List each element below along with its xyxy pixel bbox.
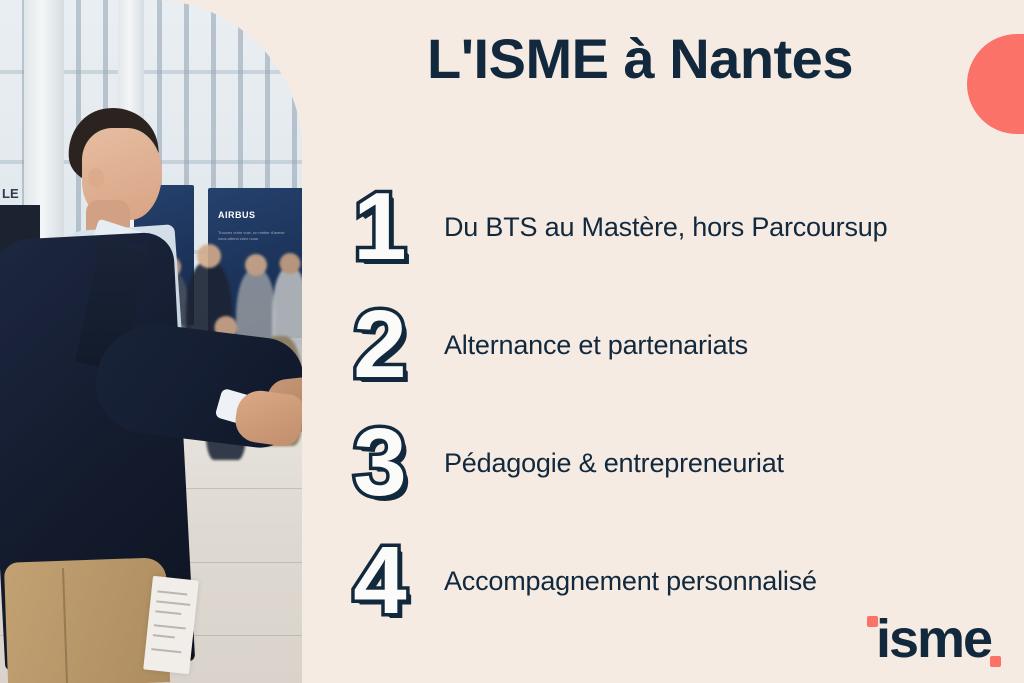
point-label: Du BTS au Mastère, hors Parcoursup <box>428 212 887 243</box>
photo-brochure <box>143 576 199 674</box>
numbered-points-list: 1 Du BTS au Mastère, hors Parcoursup 2 A… <box>332 168 1022 640</box>
point-label: Alternance et partenariats <box>428 330 748 361</box>
hero-photo: LE AIRBUS Trouvez votre voie, un métier … <box>0 0 302 683</box>
photo-banner-left-label: LE <box>2 186 19 201</box>
photo-banner-airbus-label: AIRBUS <box>218 210 256 220</box>
logo-dot-icon <box>990 656 1001 667</box>
photo-banner-airbus-sublabel: Trouvez votre voie, un métier d'avenir v… <box>218 230 292 242</box>
point-number-badge: 2 <box>332 297 428 393</box>
page-title: L'ISME à Nantes <box>330 28 950 90</box>
point-label: Pédagogie & entrepreneuriat <box>428 448 784 479</box>
point-number-badge: 3 <box>332 415 428 511</box>
photo-man-ear <box>88 168 104 188</box>
point-label: Accompagnement personnalisé <box>428 566 817 597</box>
list-item: 3 Pédagogie & entrepreneuriat <box>332 404 1022 522</box>
point-number-badge: 4 <box>332 533 428 629</box>
logo-wordmark: isme <box>876 612 991 666</box>
isme-logo: isme <box>862 612 1012 674</box>
coral-accent-shape <box>967 34 1024 134</box>
slide-canvas: LE AIRBUS Trouvez votre voie, un métier … <box>0 0 1024 683</box>
list-item: 2 Alternance et partenariats <box>332 286 1022 404</box>
point-number-badge: 1 <box>332 179 428 275</box>
list-item: 1 Du BTS au Mastère, hors Parcoursup <box>332 168 1022 286</box>
